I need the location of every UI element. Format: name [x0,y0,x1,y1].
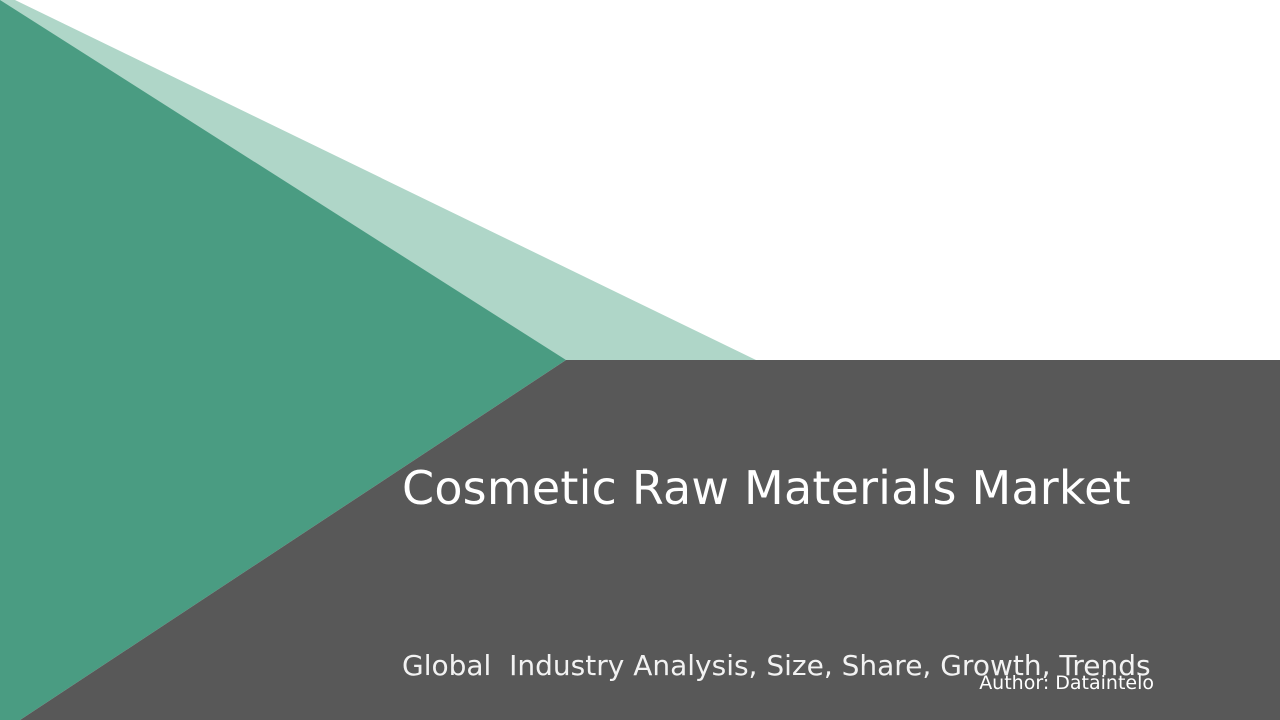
page-title: Cosmetic Raw Materials Market [402,463,1222,514]
author-credit: Author: Dataintelo [402,670,1154,696]
title-slide: Cosmetic Raw Materials Market Global Ind… [0,0,1280,720]
slide-text-layer: Cosmetic Raw Materials Market Global Ind… [0,0,1280,720]
